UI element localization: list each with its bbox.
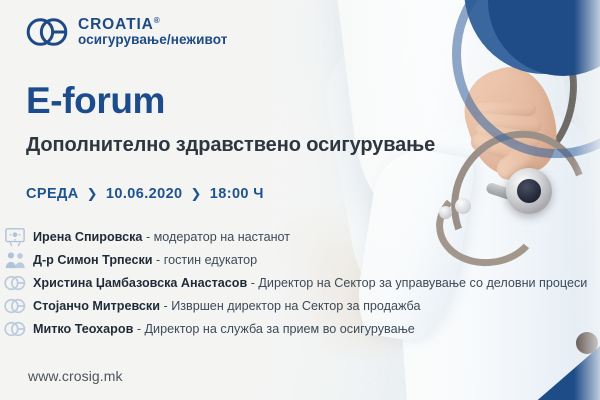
event-date: 10.06.2020 bbox=[106, 186, 183, 202]
event-datetime: СРЕДА ❯ 10.06.2020 ❯ 18:00 Ч bbox=[26, 186, 264, 202]
two-people-icon bbox=[4, 250, 26, 270]
speaker-name: Митко Теохаров bbox=[33, 322, 133, 336]
registered-mark: ® bbox=[154, 16, 160, 25]
speaker-role: Директор на Сектор за управување со дело… bbox=[258, 276, 587, 290]
list-item: Д-р Симон Трпески - гостин едукатор bbox=[4, 249, 587, 271]
speaker-name: Стојанчо Митревски bbox=[33, 299, 160, 313]
croatia-overlapping-circles-mark-icon bbox=[26, 16, 68, 48]
banner-content: CROATIA® осигурување/неживот E-forum Доп… bbox=[0, 0, 600, 400]
page-title: E-forum bbox=[26, 80, 165, 122]
brand-name-text: CROATIA bbox=[78, 16, 154, 33]
speaker-entry: Д-р Симон Трпески - гостин едукатор bbox=[33, 253, 257, 267]
speaker-name: Ирена Спировска bbox=[33, 230, 142, 244]
event-day: СРЕДА bbox=[26, 186, 79, 202]
croatia-logo-mark-icon bbox=[4, 296, 26, 316]
speaker-name: Христина Џамбазовска Анастасов bbox=[33, 276, 247, 290]
speaker-list: Ирена Спировска - модератор на настанот … bbox=[4, 226, 587, 340]
chevron-right-icon: ❯ bbox=[87, 186, 98, 202]
croatia-logo-mark-icon bbox=[4, 319, 26, 339]
speaker-entry: Стојанчо Митревски - Извршен директор на… bbox=[33, 299, 420, 313]
event-time: 18:00 Ч bbox=[210, 186, 264, 202]
speaker-name: Д-р Симон Трпески bbox=[33, 253, 153, 267]
brand-wordmark: CROATIA® осигурување/неживот bbox=[78, 17, 227, 48]
speaker-role: модератор на настанот bbox=[154, 230, 290, 244]
speaker-role: гостин едукатор bbox=[164, 253, 257, 267]
speaker-dash: - bbox=[137, 322, 141, 336]
speaker-role: Директор на служба за прием во осигурува… bbox=[145, 322, 415, 336]
e-forum-promo-banner: CROATIA® осигурување/неживот E-forum Доп… bbox=[0, 0, 600, 400]
list-item: Ирена Спировска - модератор на настанот bbox=[4, 226, 587, 248]
croatia-logo-mark-icon bbox=[4, 273, 26, 293]
page-subtitle: Дополнително здравствено осигурување bbox=[26, 134, 435, 157]
list-item: Митко Теохаров - Директор на служба за п… bbox=[4, 318, 587, 340]
speaker-entry: Митко Теохаров - Директор на служба за п… bbox=[33, 322, 415, 336]
speaker-dash: - bbox=[251, 276, 255, 290]
presentation-screen-icon bbox=[4, 227, 26, 247]
brand-logo: CROATIA® осигурување/неживот bbox=[26, 16, 227, 48]
list-item: Стојанчо Митревски - Извршен директор на… bbox=[4, 295, 587, 317]
list-item: Христина Џамбазовска Анастасов - Директо… bbox=[4, 272, 587, 294]
brand-tagline: осигурување/неживот bbox=[78, 33, 227, 47]
brand-name: CROATIA® bbox=[78, 17, 227, 34]
chevron-right-icon: ❯ bbox=[191, 186, 202, 202]
speaker-entry: Ирена Спировска - модератор на настанот bbox=[33, 230, 290, 244]
speaker-dash: - bbox=[163, 299, 167, 313]
speaker-role: Извршен директор на Сектор за продажба bbox=[171, 299, 420, 313]
speaker-dash: - bbox=[156, 253, 160, 267]
website-url[interactable]: www.crosig.mk bbox=[28, 368, 123, 384]
speaker-dash: - bbox=[146, 230, 150, 244]
speaker-entry: Христина Џамбазовска Анастасов - Директо… bbox=[33, 276, 587, 290]
